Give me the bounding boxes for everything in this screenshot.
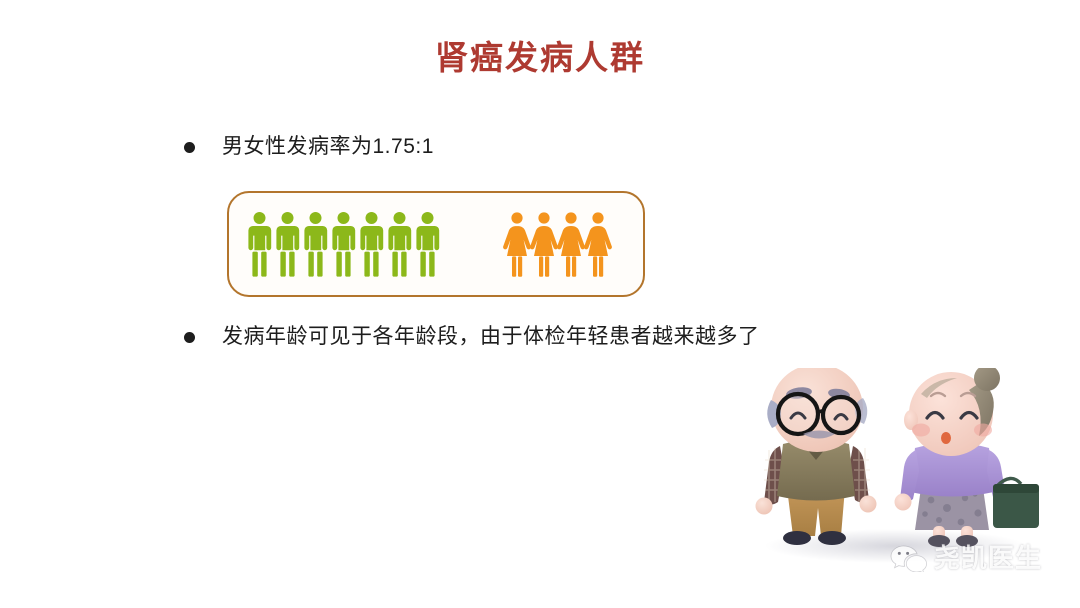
female-figure-icon (584, 211, 612, 277)
male-figure-icon (415, 211, 440, 277)
female-figure-icon (530, 211, 558, 277)
bullet-item-2: 发病年龄可见于各年龄段，由于体检年轻患者越来越多了 (184, 323, 760, 350)
page-title: 肾癌发病人群 (0, 38, 1080, 78)
bullet-item-1-label: 男女性发病率为1.75:1 (222, 133, 434, 160)
gender-ratio-pictogram-panel (227, 191, 645, 297)
male-figure-icon (359, 211, 384, 277)
grandpa-figure-icon (756, 368, 877, 545)
female-figure-group (503, 193, 612, 295)
wechat-icon (890, 544, 928, 572)
female-figure-icon (503, 211, 531, 277)
watermark: 尧凯医生 (890, 544, 1042, 572)
female-figure-icon (557, 211, 585, 277)
grandma-figure-icon (895, 368, 1040, 547)
bullet-dot-icon (184, 332, 195, 343)
male-figure-icon (387, 211, 412, 277)
male-figure-icon (331, 211, 356, 277)
male-figure-group (247, 193, 440, 295)
male-figure-icon (247, 211, 272, 277)
bullet-item-1: 男女性发病率为1.75:1 (184, 133, 434, 160)
bullet-dot-icon (184, 142, 195, 153)
male-figure-icon (303, 211, 328, 277)
bullet-item-2-label: 发病年龄可见于各年龄段，由于体检年轻患者越来越多了 (222, 323, 760, 350)
watermark-label: 尧凯医生 (934, 545, 1042, 571)
male-figure-icon (275, 211, 300, 277)
